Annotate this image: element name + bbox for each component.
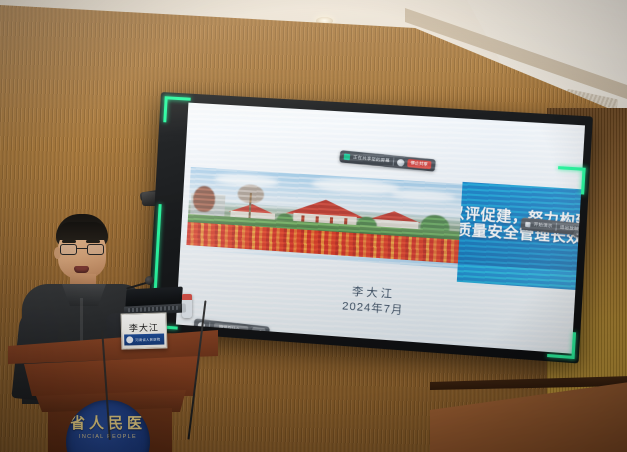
microphone-icon[interactable] [397,158,405,166]
start-presentation-label[interactable]: 开始演示 [533,222,552,230]
screen-share-toolbar[interactable]: 正在共享您的屏幕 停止共享 [339,150,435,172]
photo-tree [237,184,264,204]
eyeglasses-icon [59,244,105,256]
focus-bracket-top-left [163,96,190,123]
hospital-logo-icon [126,336,133,343]
presenter-hair-front [56,222,108,240]
gooseneck-microphone [126,276,154,294]
nameplate-org-label: 河南省人民医院 [135,337,160,343]
desk-nameplate: 李大江 河南省人民医院 [121,312,168,349]
screen-share-status-label: 正在共享您的屏幕 [353,154,390,164]
screen-share-status-dot [344,154,351,161]
water-bottle [182,294,192,318]
focus-bracket-top-right [557,166,586,194]
nameplate-org-band: 河南省人民医院 [124,333,164,345]
stop-share-button[interactable]: 停止共享 [407,159,431,169]
nameplate-name: 李大江 [122,320,166,334]
toolbar-divider [393,157,395,165]
presenter-eyebrow [86,240,100,243]
conference-room-photo: 以评促建，努力构建 医疗质量安全管理长效机制 李大江 2024年7月 正在共享您… [0,0,627,452]
slideshow-icon[interactable] [525,221,531,227]
presenter-mouth [74,266,89,273]
toolbar-divider [555,223,557,231]
microphone-capsule-icon [145,276,154,285]
presenter-eyebrow [62,240,76,243]
focus-bracket-bottom-right [547,330,576,359]
presentation-slide: 以评促建，努力构建 医疗质量安全管理长效机制 李大江 2024年7月 正在共享您… [176,103,585,354]
led-video-wall[interactable]: 以评促建，努力构建 医疗质量安全管理长效机制 李大江 2024年7月 正在共享您… [147,92,593,364]
display-panel[interactable]: 以评促建，努力构建 医疗质量安全管理长效机制 李大江 2024年7月 正在共享您… [176,103,585,354]
